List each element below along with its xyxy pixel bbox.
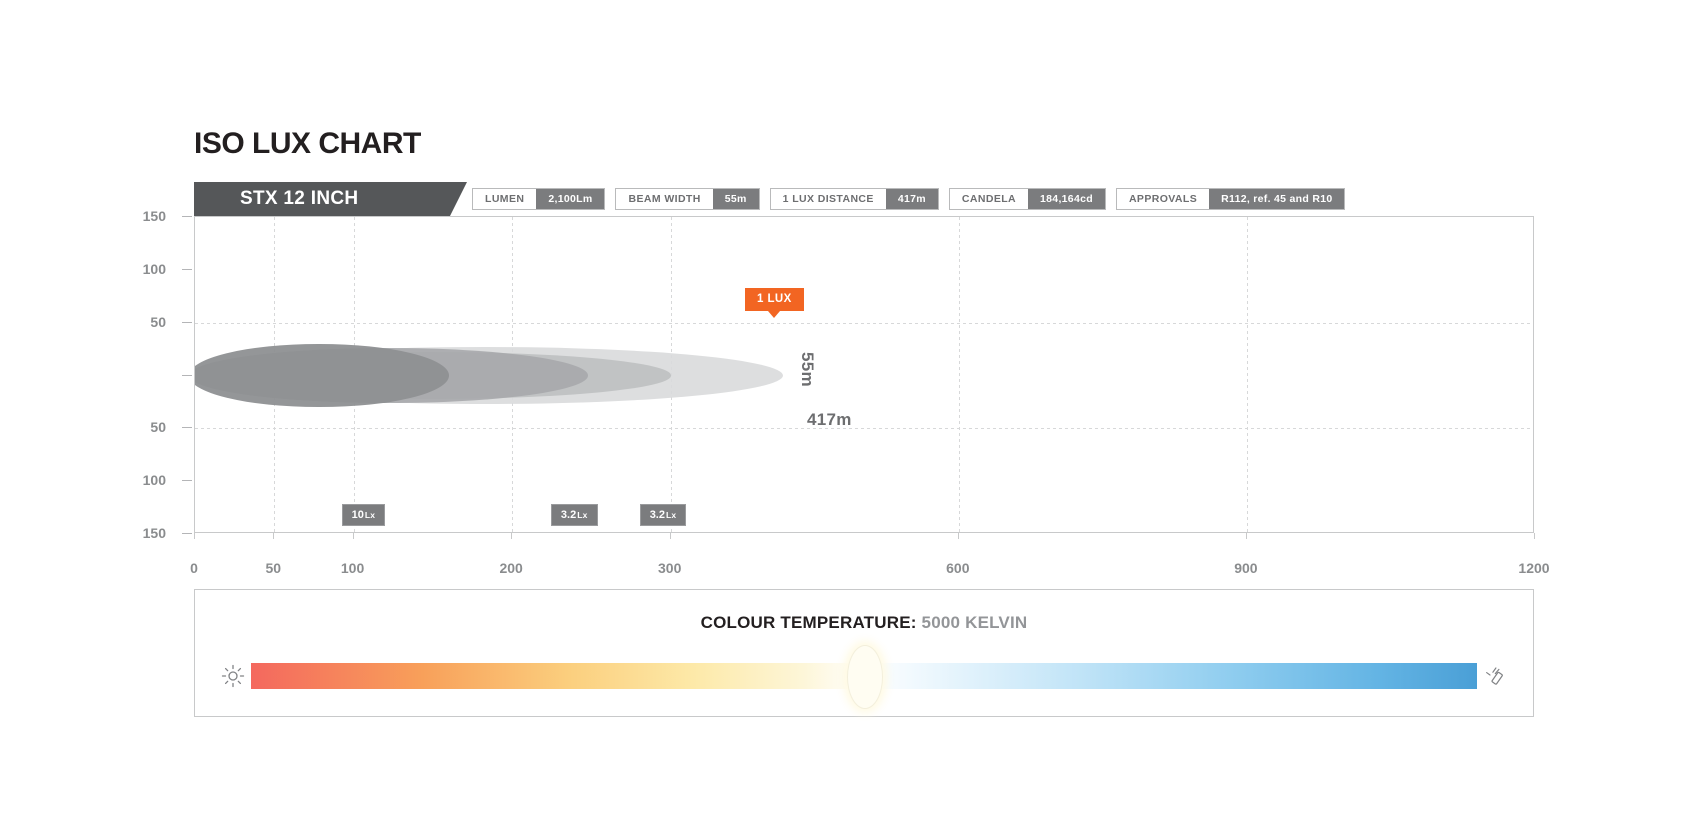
y-axis-tick-label: 150 [126, 208, 166, 224]
spec-key-lumen: LUMEN [473, 189, 536, 209]
y-axis-tick [182, 533, 192, 534]
spec-key-lux-distance: 1 LUX DISTANCE [771, 189, 886, 209]
x-axis-tick-label: 900 [1234, 560, 1257, 576]
iso-lux-plot-area [194, 216, 1534, 533]
colour-temperature-scale [215, 650, 1513, 702]
y-axis-tick [182, 216, 192, 217]
spec-header-strip: STX 12 INCH LUMEN 2,100Lm BEAM WIDTH 55m… [194, 182, 1534, 216]
lux-level-value: 10 [352, 509, 364, 521]
spec-value-lux-distance: 417m [886, 189, 938, 209]
spec-badge-lumen: LUMEN 2,100Lm [472, 188, 605, 210]
x-axis-tick-label: 1200 [1518, 560, 1549, 576]
spec-value-approvals: R112, ref. 45 and R10 [1209, 189, 1344, 209]
colour-temperature-marker [847, 645, 883, 709]
lux-level-unit: Lx [666, 510, 676, 520]
lux-level-unit: Lx [577, 510, 587, 520]
colour-temperature-label: COLOUR TEMPERATURE: [701, 613, 917, 632]
y-axis-tick-label: 150 [126, 525, 166, 541]
spec-value-candela: 184,164cd [1028, 189, 1105, 209]
x-axis-tick [1534, 533, 1535, 539]
x-axis-tick-label: 50 [265, 560, 281, 576]
spec-value-lumen: 2,100Lm [536, 189, 604, 209]
model-name-tag: STX 12 INCH [194, 182, 450, 216]
x-axis-tick [353, 533, 354, 539]
x-axis-tick [511, 533, 512, 539]
spec-badge-beam-width: BEAM WIDTH 55m [615, 188, 759, 210]
lux-distance-annotation: 417m [807, 410, 852, 430]
x-axis-tick-label: 200 [499, 560, 522, 576]
x-axis-tick-label: 0 [190, 560, 198, 576]
vertical-gridline [959, 217, 960, 532]
spec-key-beam-width: BEAM WIDTH [616, 189, 712, 209]
lux-level-value: 3.2 [650, 509, 665, 521]
page-title: ISO LUX CHART [194, 127, 421, 161]
spec-key-candela: CANDELA [950, 189, 1028, 209]
lux-level-value: 3.2 [561, 509, 576, 521]
colour-temperature-panel: COLOUR TEMPERATURE: 5000 KELVIN [194, 589, 1534, 717]
y-axis-tick-label: 100 [126, 261, 166, 277]
colour-temperature-value: 5000 KELVIN [922, 613, 1028, 632]
y-axis-tick [182, 269, 192, 270]
y-axis-tick-label: 100 [126, 472, 166, 488]
x-axis-tick-label: 600 [946, 560, 969, 576]
y-axis-tick-label: 50 [126, 419, 166, 435]
spec-key-approvals: APPROVALS [1117, 189, 1209, 209]
y-axis-tick [182, 480, 192, 481]
lux-level-badge: 3.2Lx [640, 504, 687, 526]
colour-temperature-gradient-bar [251, 663, 1477, 689]
lux-level-badge: 10Lx [342, 504, 386, 526]
colour-temperature-title: COLOUR TEMPERATURE: 5000 KELVIN [195, 613, 1533, 633]
y-axis-tick [182, 375, 192, 376]
horizontal-gridline [195, 428, 1533, 429]
x-axis-tick-label: 300 [658, 560, 681, 576]
spec-badge-candela: CANDELA 184,164cd [949, 188, 1106, 210]
x-axis-tick [670, 533, 671, 539]
x-axis-tick [194, 533, 195, 539]
sun-icon [215, 664, 251, 688]
spec-value-beam-width: 55m [713, 189, 759, 209]
lux-level-badge: 3.2Lx [551, 504, 598, 526]
y-axis-tick [182, 427, 192, 428]
y-axis-tick-label: 50 [126, 314, 166, 330]
x-axis-tick-label: 100 [341, 560, 364, 576]
one-lux-marker-flag: 1 LUX [745, 288, 804, 311]
lux-level-unit: Lx [365, 510, 375, 520]
model-name-label: STX 12 INCH [240, 188, 358, 210]
spec-badge-lux-distance: 1 LUX DISTANCE 417m [770, 188, 939, 210]
spec-badge-list: LUMEN 2,100Lm BEAM WIDTH 55m 1 LUX DISTA… [472, 188, 1345, 210]
horizontal-gridline [195, 323, 1533, 324]
x-axis-tick [273, 533, 274, 539]
beam-contour [194, 344, 449, 407]
beam-width-annotation: 55m [797, 352, 817, 387]
spec-badge-approvals: APPROVALS R112, ref. 45 and R10 [1116, 188, 1346, 210]
vertical-gridline [1247, 217, 1248, 532]
x-axis-tick [958, 533, 959, 539]
x-axis-tick [1246, 533, 1247, 539]
torch-icon [1477, 663, 1513, 689]
y-axis-tick [182, 322, 192, 323]
